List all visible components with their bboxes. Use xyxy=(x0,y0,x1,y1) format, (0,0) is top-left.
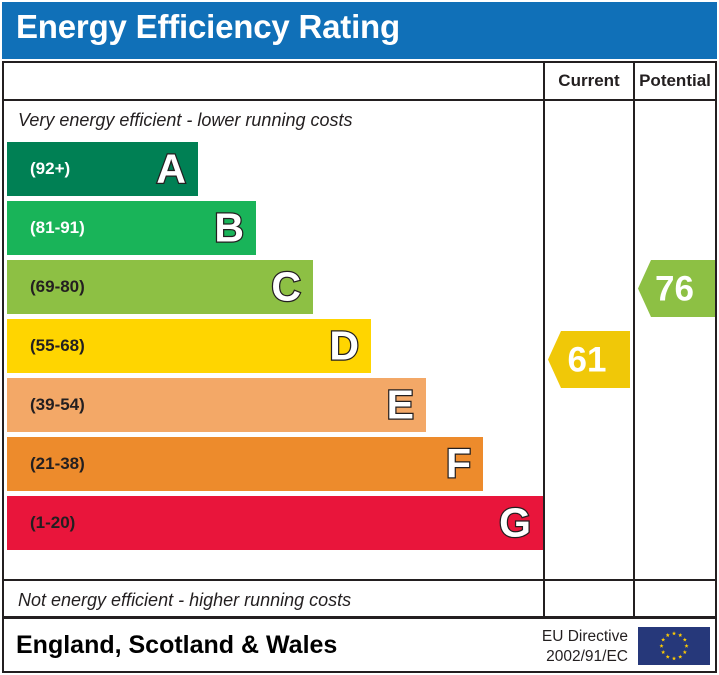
band-letter-label: G xyxy=(499,503,531,544)
rating-band-d: (55-68)D xyxy=(7,319,371,373)
potential-column-divider xyxy=(633,63,635,616)
band-range-label: (1-20) xyxy=(30,513,75,533)
band-letter-label: C xyxy=(271,267,301,308)
current-rating-value: 61 xyxy=(548,342,626,377)
current-column-divider xyxy=(543,63,545,616)
rating-band-a: (92+)A xyxy=(7,142,198,196)
eu-flag-icon xyxy=(638,627,710,665)
epc-certificate: Energy Efficiency Rating Current Potenti… xyxy=(0,0,719,675)
potential-rating-arrow: 76 xyxy=(638,260,715,317)
rating-band-b: (81-91)B xyxy=(7,201,256,255)
footer-bar: England, Scotland & Wales EU Directive 2… xyxy=(2,617,717,673)
rating-band-g: (1-20)G xyxy=(7,496,543,550)
footer-directive-line1: EU Directive xyxy=(520,627,628,647)
band-range-label: (81-91) xyxy=(30,218,85,238)
page-title: Energy Efficiency Rating xyxy=(16,8,400,46)
column-header-potential: Potential xyxy=(635,63,715,99)
band-letter-label: A xyxy=(156,149,186,190)
band-range-label: (21-38) xyxy=(30,454,85,474)
footer-directive-line2: 2002/91/EC xyxy=(520,647,628,667)
current-rating-arrow: 61 xyxy=(548,331,630,388)
title-bar: Energy Efficiency Rating xyxy=(2,2,717,59)
column-header-current: Current xyxy=(545,63,633,99)
potential-rating-value: 76 xyxy=(638,271,711,306)
band-range-label: (92+) xyxy=(30,159,70,179)
band-range-label: (39-54) xyxy=(30,395,85,415)
band-letter-label: B xyxy=(214,208,244,249)
rating-band-e: (39-54)E xyxy=(7,378,426,432)
band-letter-label: F xyxy=(446,444,471,485)
band-letter-label: D xyxy=(329,326,359,367)
footer-directive: EU Directive 2002/91/EC xyxy=(520,627,628,668)
rating-band-f: (21-38)F xyxy=(7,437,483,491)
rating-table: Current Potential Very energy efficient … xyxy=(2,61,717,618)
band-range-label: (69-80) xyxy=(30,277,85,297)
rating-band-c: (69-80)C xyxy=(7,260,313,314)
band-range-label: (55-68) xyxy=(30,336,85,356)
rating-bands: (92+)A(81-91)B(69-80)C(55-68)D(39-54)E(2… xyxy=(4,63,543,616)
band-letter-label: E xyxy=(387,385,414,426)
footer-region-label: England, Scotland & Wales xyxy=(16,631,337,660)
